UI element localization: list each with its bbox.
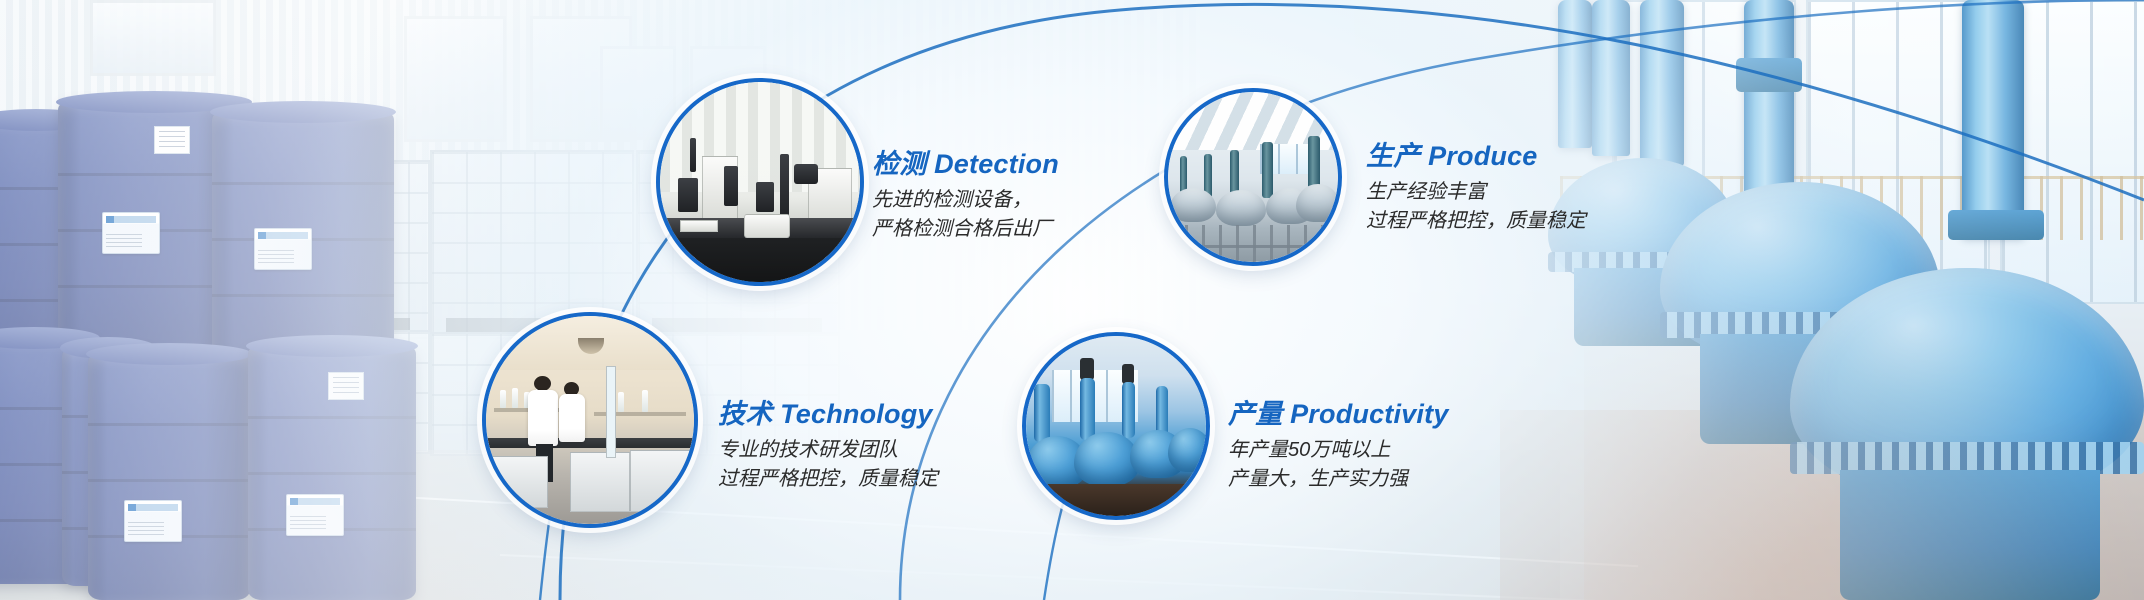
photo-frame [1026,336,1206,516]
capability-banner: 检测 Detection 先进的检测设备， 严格检测合格后出厂 生产 Produ… [0,0,2144,600]
feature-photo-technology[interactable] [482,312,698,528]
steel-reactor [1216,190,1266,226]
reagent-bottle [642,390,648,412]
lab-cabinet [630,450,694,512]
reagent-bottle [618,392,624,412]
detection-line-2: 严格检测合格后出厂 [872,215,1059,245]
detection-lab-photo [660,82,860,282]
technology-heading: 技术 Technology [718,398,938,432]
lab-column [606,366,616,458]
technician-head [534,376,551,391]
digital-scale [744,214,790,238]
photo-frame [1168,92,1338,262]
detection-line-1: 先进的检测设备， [872,186,1059,216]
microscope-body [678,178,698,212]
technology-line-1: 专业的技术研发团队 [718,436,938,466]
produce-heading: 生产 Produce [1366,140,1586,174]
hall-floor [1026,484,1206,516]
photo-frame [486,316,694,524]
feature-text-detection: 检测 Detection 先进的检测设备， 严格检测合格后出厂 [872,148,1059,245]
lab-cabinet [570,452,630,512]
technician-lab-coat [528,390,558,446]
reactor-column [1080,378,1095,440]
hall-rail-posts [1168,225,1338,262]
lab-cabinet [486,456,548,508]
productivity-reactors-photo [1026,336,1206,516]
feature-photo-produce[interactable] [1164,88,1342,266]
monitor-screen [794,164,818,184]
produce-line-2: 过程严格把控，质量稳定 [1366,207,1586,237]
agitator-motor [1122,364,1134,384]
detection-heading: 检测 Detection [872,148,1059,182]
lab-floor [660,238,860,282]
feature-text-productivity: 产量 Productivity 年产量50万吨以上 产量大，生产实力强 [1228,398,1449,495]
feature-photo-productivity[interactable] [1022,332,1210,520]
productivity-line-1: 年产量50万吨以上 [1228,436,1449,466]
productivity-heading: 产量 Productivity [1228,398,1449,432]
test-stand-post [780,154,789,220]
lamp-post [690,138,696,172]
technology-lab-photo [486,316,694,524]
productivity-line-2: 产量大，生产实力强 [1228,465,1449,495]
technology-line-2: 过程严格把控，质量稳定 [718,465,938,495]
technician-lab-coat [559,394,585,442]
agitator-motor [1080,358,1094,380]
photo-frame [660,82,860,282]
test-fixture [756,182,774,212]
steel-reactor [1296,184,1338,222]
steel-reactor [1170,188,1216,222]
feature-text-technology: 技术 Technology 专业的技术研发团队 过程严格把控，质量稳定 [718,398,938,495]
reactor-column [1122,382,1135,438]
agitator-shaft [1262,142,1273,198]
reactor-column [1034,384,1050,442]
feature-text-produce: 生产 Produce 生产经验丰富 过程严格把控，质量稳定 [1366,140,1586,237]
lab-counter-edge [486,438,694,448]
reagent-bottle [512,388,518,408]
produce-hall-photo [1168,92,1338,262]
paper-sheet [680,220,718,232]
reagent-bottle [500,390,506,408]
blue-reactor [1168,428,1206,472]
microscope-body [724,166,738,206]
produce-line-1: 生产经验丰富 [1366,178,1586,208]
feature-photo-detection[interactable] [656,78,864,286]
